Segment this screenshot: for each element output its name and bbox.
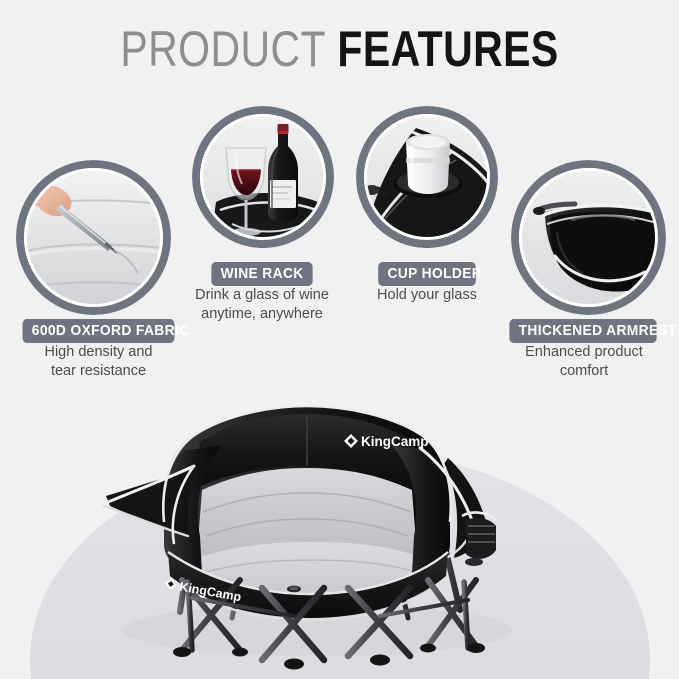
feature-image-cup-holder bbox=[356, 106, 498, 248]
feature-image-wine-rack bbox=[192, 106, 334, 248]
svg-text:KingCamp: KingCamp bbox=[361, 434, 429, 449]
feature-caption-oxford-fabric: High density and tear resistance bbox=[6, 343, 191, 381]
feature-caption-thickened-armrest: Enhanced product comfort bbox=[498, 343, 670, 381]
product-image: KingCamp KingCamp bbox=[72, 330, 542, 670]
feature-image-oxford-fabric bbox=[16, 160, 171, 315]
infographic-canvas: PRODUCTFEATURES bbox=[0, 0, 679, 679]
feature-caption-wine-rack: Drink a glass of wine anytime, anywhere bbox=[182, 286, 342, 324]
page-title: PRODUCTFEATURES bbox=[0, 22, 679, 76]
page-title-bold: FEATURES bbox=[337, 21, 558, 77]
chair-cup-holder bbox=[462, 513, 496, 566]
feature-badge-wine-rack: WINE RACK bbox=[211, 262, 312, 286]
page-title-light: PRODUCT bbox=[120, 21, 326, 77]
feature-badge-oxford-fabric: 600D OXFORD FABRIC bbox=[23, 319, 175, 343]
feature-badge-cup-holder: CUP HOLDER bbox=[378, 262, 476, 286]
feature-image-thickened-armrest bbox=[511, 160, 666, 315]
feature-badge-thickened-armrest: THICKENED ARMREST bbox=[509, 319, 656, 343]
feature-caption-cup-holder: Hold your glass bbox=[352, 286, 502, 305]
